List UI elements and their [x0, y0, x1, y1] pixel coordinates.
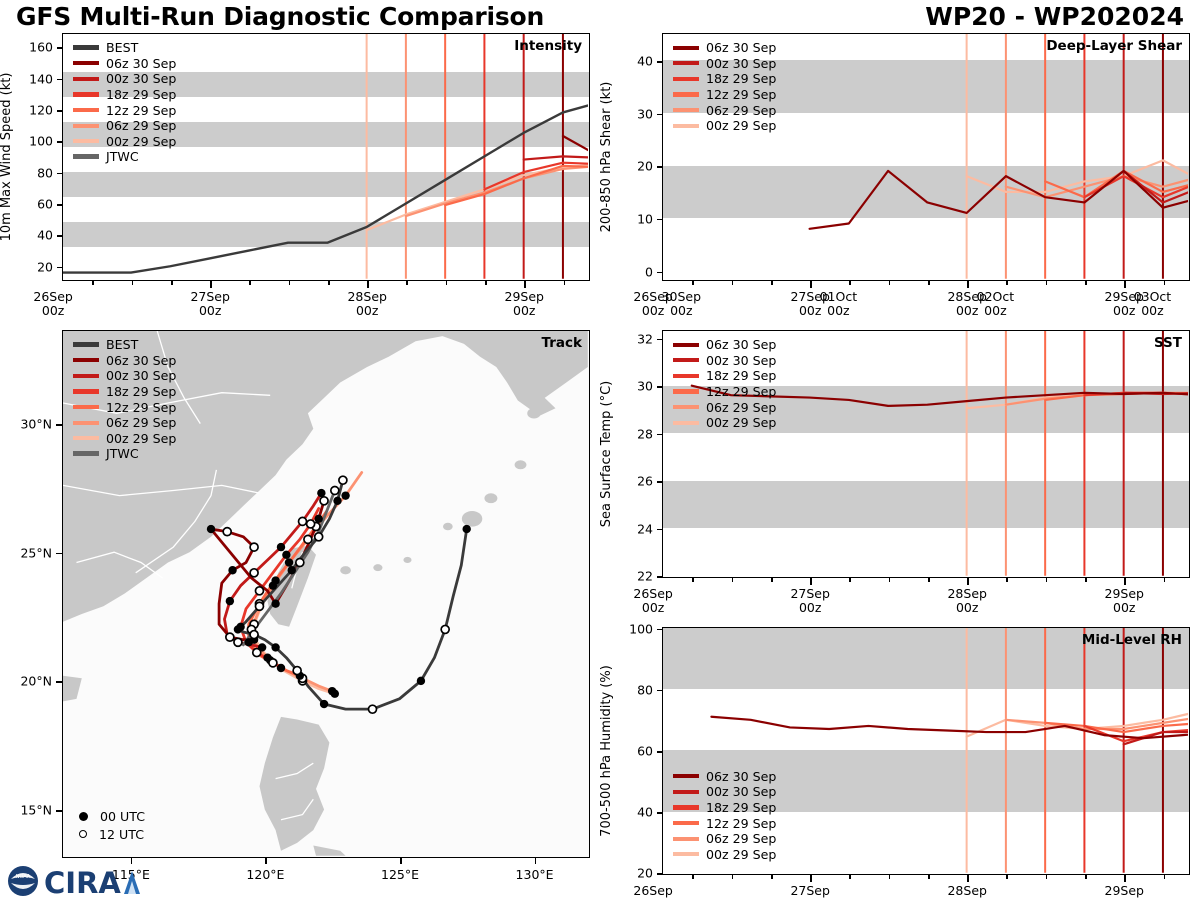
legend-item: 00z 29 Sep	[73, 431, 176, 447]
legend-swatch-icon	[673, 124, 699, 128]
x-tick-mark	[849, 578, 851, 582]
x-tick-mark	[289, 281, 291, 285]
legend-shear: 06z 30 Sep00z 30 Sep18z 29 Sep12z 29 Sep…	[673, 40, 776, 134]
x-tick-hour: 00z	[956, 303, 978, 318]
x-tick-hour: 00z	[1141, 303, 1163, 318]
y-tick-mark	[657, 629, 662, 631]
lat-tick-label: 25°N	[20, 545, 52, 560]
x-tick-mark	[928, 281, 930, 285]
x-tick-label: 27Sep00z	[790, 290, 829, 319]
y-tick-label: 26	[637, 474, 653, 489]
x-tick-label: 29Sep00z	[1105, 587, 1144, 616]
track-marker-12utc	[223, 528, 231, 536]
x-tick-mark	[692, 578, 694, 582]
x-tick-mark	[692, 875, 694, 879]
x-tick-day: 28Sep	[947, 289, 986, 304]
svg-text:CIRA: CIRA	[44, 866, 121, 900]
filled-circle-icon	[79, 812, 88, 821]
track-marker-00utc	[282, 551, 290, 559]
marker-legend-item: 00 UTC	[75, 807, 145, 825]
y-tick-mark	[657, 339, 662, 341]
x-tick-day: 29Sep	[1105, 586, 1144, 601]
y-tick-label: 100	[629, 621, 653, 636]
x-tick-mark	[1164, 578, 1166, 582]
track-marker-12utc	[293, 667, 301, 675]
legend-item: 12z 29 Sep	[73, 102, 176, 118]
x-tick-mark	[771, 875, 773, 879]
track-marker-12utc	[307, 520, 315, 528]
x-tick-hour: 00z	[642, 303, 664, 318]
x-tick-hour: 00z	[827, 303, 849, 318]
legend-label: 12z 29 Sep	[706, 87, 776, 102]
y-tick-label: 80	[37, 165, 53, 180]
x-tick-label: 28Sep00z	[347, 290, 386, 319]
y-tick-mark	[657, 812, 662, 814]
y-tick-label: 22	[637, 569, 653, 584]
x-tick-mark	[849, 875, 851, 879]
series-line	[1006, 393, 1188, 431]
lat-tick-mark	[56, 424, 62, 426]
track-marker-00utc	[207, 525, 215, 533]
lat-tick-label: 15°N	[20, 803, 52, 818]
legend-swatch-icon	[673, 108, 699, 112]
legend-swatch-icon	[73, 108, 99, 112]
lat-tick-mark	[56, 553, 62, 555]
track-marker-12utc	[255, 602, 263, 610]
legend-swatch-icon	[673, 421, 699, 425]
y-tick-label: 40	[37, 228, 53, 243]
legend-swatch-icon	[73, 92, 99, 96]
lon-tick-label: 120°E	[246, 868, 284, 882]
x-tick-mark	[849, 281, 851, 285]
y-tick-mark	[657, 529, 662, 531]
track-marker-00utc	[333, 497, 341, 505]
y-tick-label: 40	[637, 805, 653, 820]
legend-item: 12z 29 Sep	[73, 399, 176, 415]
x-tick-label: 27Sep00z	[790, 587, 829, 616]
series-line	[1045, 393, 1188, 436]
y-tick-mark	[657, 166, 662, 168]
legend-swatch-icon	[673, 405, 699, 409]
x-tick-mark	[1124, 281, 1126, 288]
coastline-shape	[260, 717, 330, 851]
series-line	[406, 158, 588, 238]
map-plot-area: TrackBEST06z 30 Sep00z 30 Sep18z 29 Sep1…	[62, 330, 590, 858]
y-tick-label: 24	[637, 521, 653, 536]
legend-swatch-icon	[673, 343, 699, 347]
x-tick-hour: 00z	[513, 303, 535, 318]
marker-legend-label: 12 UTC	[99, 827, 144, 842]
lat-tick-mark	[56, 810, 62, 812]
x-tick-hour: 00z	[1113, 600, 1135, 615]
lat-tick-mark	[56, 681, 62, 683]
marker-legend-item: 12 UTC	[75, 825, 145, 843]
y-tick-mark	[657, 690, 662, 692]
track-marker-00utc	[271, 643, 279, 651]
x-tick-mark	[406, 281, 408, 285]
track-marker-12utc	[339, 476, 347, 484]
legend-label: 00z 29 Sep	[706, 415, 776, 430]
x-tick-hour: 00z	[1113, 303, 1135, 318]
x-tick-day: 27Sep	[190, 289, 229, 304]
x-tick-label: 26Sep00z	[633, 290, 672, 319]
track-marker-00utc	[277, 543, 285, 551]
legend-swatch-icon	[673, 358, 699, 362]
legend-label: 00z 30 Sep	[106, 71, 176, 86]
legend-label: 06z 29 Sep	[106, 118, 176, 133]
legend-item: 18z 29 Sep	[73, 384, 176, 400]
y-tick-mark	[657, 873, 662, 875]
x-tick-mark	[132, 281, 134, 285]
track-marker-12utc	[320, 497, 328, 505]
panel-title-shear: Deep-Layer Shear	[1046, 38, 1182, 54]
legend-item: JTWC	[73, 446, 176, 462]
x-tick-mark	[1006, 578, 1008, 582]
plot-area-sst: SST06z 30 Sep00z 30 Sep18z 29 Sep12z 29 …	[662, 330, 1190, 578]
y-axis-label-intensity: 10m Max Wind Speed (kt)	[0, 73, 14, 242]
x-tick-mark	[889, 875, 891, 879]
legend-swatch-icon	[73, 154, 99, 159]
y-tick-mark	[57, 141, 62, 143]
svg-text:NOAA: NOAA	[16, 874, 31, 880]
track-marker-12utc	[255, 587, 263, 595]
series-line	[967, 139, 1188, 255]
legend-item: 06z 30 Sep	[73, 56, 176, 72]
legend-swatch-icon	[73, 451, 99, 456]
legend-label: 00z 29 Sep	[106, 134, 176, 149]
legend-item: 00z 29 Sep	[673, 118, 776, 134]
y-tick-mark	[657, 114, 662, 116]
cira-logo: NOAA CIRA	[6, 862, 146, 900]
track-marker-00utc	[341, 491, 349, 499]
panel-shear: Deep-Layer Shear06z 30 Sep00z 30 Sep18z …	[662, 33, 1190, 281]
x-tick-mark	[92, 281, 94, 285]
x-tick-label: 27Sep00z	[190, 290, 229, 319]
legend-swatch-icon	[73, 45, 99, 50]
lat-tick-label: 20°N	[20, 674, 52, 689]
x-tick-mark	[928, 875, 930, 879]
legend-label: 00z 30 Sep	[706, 353, 776, 368]
track-marker-12utc	[296, 559, 304, 567]
y-tick-label: 100	[29, 134, 53, 149]
track-marker-12utc	[315, 533, 323, 541]
x-tick-mark	[1046, 875, 1048, 879]
legend-swatch-icon	[73, 436, 99, 440]
x-tick-mark	[564, 281, 566, 285]
legend-item: 06z 30 Sep	[73, 353, 176, 369]
legend-label: 06z 29 Sep	[106, 415, 176, 430]
x-tick-mark	[1164, 875, 1166, 879]
x-tick-mark	[771, 281, 773, 285]
y-tick-label: 120	[29, 102, 53, 117]
x-tick-hour: 00z	[799, 303, 821, 318]
legend-label: 06z 29 Sep	[706, 831, 776, 846]
x-tick-mark	[732, 578, 734, 582]
legend-label: BEST	[106, 337, 138, 352]
legend-item: 12z 29 Sep	[673, 815, 776, 831]
y-tick-label: 30	[637, 379, 653, 394]
x-tick-mark	[692, 281, 694, 285]
x-tick-label: 27Sep00z	[790, 884, 829, 900]
track-marker-00utc	[226, 597, 234, 605]
y-axis-label-sst: Sea Surface Temp (°C)	[599, 381, 614, 528]
legend-label: 18z 29 Sep	[706, 71, 776, 86]
y-axis-label-rh: 700-500 hPa Humidity (%)	[599, 665, 614, 837]
legend-intensity: BEST06z 30 Sep00z 30 Sep18z 29 Sep12z 29…	[73, 40, 176, 165]
lon-tick-label: 125°E	[381, 868, 419, 882]
y-tick-mark	[57, 204, 62, 206]
y-tick-mark	[657, 386, 662, 388]
track-marker-12utc	[250, 543, 258, 551]
legend-label: 06z 30 Sep	[706, 769, 776, 784]
lon-tick-label: 130°E	[516, 868, 554, 882]
y-tick-mark	[657, 576, 662, 578]
track-marker-12utc	[234, 638, 242, 646]
y-tick-mark	[57, 235, 62, 237]
legend-item: 00z 29 Sep	[673, 415, 776, 431]
legend-item: 06z 30 Sep	[673, 40, 776, 56]
lat-tick-label: 30°N	[20, 417, 52, 432]
y-tick-mark	[57, 267, 62, 269]
legend-item: 06z 30 Sep	[673, 337, 776, 353]
legend-item: 00z 30 Sep	[673, 784, 776, 800]
track-marker-00utc	[277, 664, 285, 672]
legend-swatch-icon	[73, 139, 99, 143]
legend-label: 00z 30 Sep	[106, 368, 176, 383]
legend-label: 00z 29 Sep	[706, 118, 776, 133]
x-tick-day: 27Sep	[790, 586, 829, 601]
x-tick-mark	[1164, 281, 1166, 285]
y-tick-label: 32	[637, 331, 653, 346]
island-shape	[373, 564, 382, 571]
x-tick-day: 29Sep	[505, 289, 544, 304]
y-tick-label: 60	[637, 744, 653, 759]
x-tick-mark	[967, 875, 969, 882]
x-tick-mark	[171, 281, 173, 285]
legend-item: 18z 29 Sep	[673, 800, 776, 816]
y-tick-label: 80	[637, 682, 653, 697]
series-line	[1084, 393, 1187, 498]
x-tick-mark	[328, 281, 330, 285]
lon-tick-mark	[265, 858, 267, 864]
x-tick-day: 26Sep	[633, 289, 672, 304]
x-tick-mark	[810, 875, 812, 882]
legend-label: 06z 30 Sep	[106, 56, 176, 71]
panel-sst: SST06z 30 Sep00z 30 Sep18z 29 Sep12z 29 …	[662, 330, 1190, 578]
x-tick-hour: 00z	[356, 303, 378, 318]
legend-swatch-icon	[673, 852, 699, 856]
series-line	[1006, 686, 1188, 796]
y-tick-mark	[657, 219, 662, 221]
track-marker-12utc	[304, 535, 312, 543]
legend-swatch-icon	[673, 389, 699, 393]
legend-swatch-icon	[73, 358, 99, 362]
legend-label: 12z 29 Sep	[706, 816, 776, 831]
legend-item: 00z 30 Sep	[673, 353, 776, 369]
series-line	[1006, 150, 1188, 255]
track-marker-00utc	[258, 643, 266, 651]
panel-title-track: Track	[542, 335, 582, 351]
x-tick-hour: 00z	[984, 303, 1006, 318]
x-tick-label: 28Sep00z	[947, 587, 986, 616]
track-marker-00utc	[271, 599, 279, 607]
legend-markers: 00 UTC12 UTC	[75, 807, 145, 843]
x-tick-day: 27Sep	[790, 289, 829, 304]
track-marker-00utc	[417, 677, 425, 685]
panel-title-intensity: Intensity	[514, 38, 582, 54]
y-tick-label: 40	[637, 53, 653, 68]
legend-swatch-icon	[73, 342, 99, 347]
legend-item: 18z 29 Sep	[673, 71, 776, 87]
legend-label: 12z 29 Sep	[106, 400, 176, 415]
y-tick-label: 10	[637, 211, 653, 226]
panel-title-rh: Mid-Level RH	[1082, 632, 1182, 648]
legend-label: 06z 29 Sep	[706, 400, 776, 415]
legend-label: 00z 30 Sep	[706, 56, 776, 71]
legend-swatch-icon	[673, 46, 699, 50]
x-tick-mark	[1085, 875, 1087, 879]
track-marker-00utc	[288, 566, 296, 574]
legend-item: 06z 29 Sep	[673, 399, 776, 415]
x-tick-day: 28Sep	[347, 289, 386, 304]
legend-item: 00z 30 Sep	[73, 368, 176, 384]
series-line	[1084, 686, 1187, 759]
track-marker-00utc	[228, 566, 236, 574]
x-tick-mark	[810, 281, 812, 288]
legend-label: 00z 30 Sep	[706, 784, 776, 799]
x-tick-hour: 00z	[799, 600, 821, 615]
x-tick-mark	[367, 281, 369, 288]
legend-item: 06z 29 Sep	[73, 118, 176, 134]
y-tick-label: 140	[29, 71, 53, 86]
track-marker-00utc	[285, 558, 293, 566]
legend-label: 18z 29 Sep	[706, 800, 776, 815]
legend-swatch-icon	[73, 389, 99, 393]
x-tick-label: 26Sep00z	[633, 587, 672, 616]
x-tick-mark	[210, 281, 212, 288]
lon-tick-mark	[535, 858, 537, 864]
y-tick-mark	[57, 79, 62, 81]
track-marker-00utc	[269, 581, 277, 589]
y-tick-label: 20	[637, 159, 653, 174]
legend-item: 00z 29 Sep	[673, 846, 776, 862]
y-tick-mark	[57, 110, 62, 112]
legend-swatch-icon	[673, 61, 699, 65]
legend-item: 06z 29 Sep	[673, 831, 776, 847]
x-tick-hour: 00z	[199, 303, 221, 318]
coastline-shape	[63, 676, 82, 702]
legend-swatch-icon	[673, 374, 699, 378]
panel-title-sst: SST	[1154, 335, 1182, 351]
x-tick-day: 29Sep	[1105, 883, 1144, 898]
legend-item: 06z 30 Sep	[673, 768, 776, 784]
y-tick-mark	[57, 173, 62, 175]
legend-track: BEST06z 30 Sep00z 30 Sep18z 29 Sep12z 29…	[73, 337, 176, 462]
x-tick-mark	[967, 281, 969, 288]
series-line	[967, 686, 1188, 807]
lon-tick-mark	[400, 858, 402, 864]
legend-label: 18z 29 Sep	[106, 384, 176, 399]
x-tick-mark	[1085, 281, 1087, 285]
x-tick-day: 29Sep	[1105, 289, 1144, 304]
track-marker-12utc	[368, 705, 376, 713]
x-tick-mark	[889, 281, 891, 285]
legend-swatch-icon	[73, 124, 99, 128]
plot-area-shear: Deep-Layer Shear06z 30 Sep00z 30 Sep18z …	[662, 33, 1190, 281]
legend-label: 06z 30 Sep	[106, 353, 176, 368]
coastline-shape	[313, 846, 345, 856]
track-marker-00utc	[328, 687, 336, 695]
legend-item: 12z 29 Sep	[673, 87, 776, 103]
marker-legend-label: 00 UTC	[100, 809, 145, 824]
legend-sst: 06z 30 Sep00z 30 Sep18z 29 Sep12z 29 Sep…	[673, 337, 776, 431]
island-shape	[403, 557, 411, 563]
series-line	[810, 145, 1188, 261]
x-tick-day: 26Sep	[633, 586, 672, 601]
series-line	[1124, 393, 1188, 495]
x-tick-mark	[1124, 875, 1126, 882]
plot-area-intensity: IntensityBEST06z 30 Sep00z 30 Sep18z 29 …	[62, 33, 590, 281]
x-tick-label: 29Sep00z	[505, 290, 544, 319]
series-line	[1124, 689, 1188, 762]
legend-label: 00z 29 Sep	[106, 431, 176, 446]
x-tick-mark	[485, 281, 487, 285]
legend-swatch-icon	[673, 92, 699, 96]
legend-item: 00z 30 Sep	[73, 71, 176, 87]
page-title: GFS Multi-Run Diagnostic Comparison	[16, 2, 544, 31]
legend-item: 18z 29 Sep	[73, 87, 176, 103]
x-tick-hour: 00z	[670, 303, 692, 318]
track-marker-12utc	[226, 633, 234, 641]
y-tick-label: 30	[637, 106, 653, 121]
legend-swatch-icon	[73, 374, 99, 378]
panel-rh: Mid-Level RH06z 30 Sep00z 30 Sep18z 29 S…	[662, 627, 1190, 875]
legend-swatch-icon	[673, 77, 699, 81]
y-tick-label: 60	[37, 197, 53, 212]
panel-track-map: TrackBEST06z 30 Sep00z 30 Sep18z 29 Sep1…	[62, 330, 590, 858]
track-marker-12utc	[250, 631, 258, 639]
track-marker-00utc	[234, 625, 242, 633]
x-tick-mark	[771, 578, 773, 582]
island-shape	[484, 493, 497, 503]
legend-item: 12z 29 Sep	[673, 384, 776, 400]
x-tick-mark	[928, 578, 930, 582]
track-marker-12utc	[250, 569, 258, 577]
y-tick-label: 160	[29, 40, 53, 55]
y-tick-mark	[657, 61, 662, 63]
legend-label: 18z 29 Sep	[706, 368, 776, 383]
legend-swatch-icon	[73, 421, 99, 425]
x-tick-mark	[889, 578, 891, 582]
y-tick-label: 20	[637, 866, 653, 881]
legend-swatch-icon	[73, 77, 99, 81]
legend-label: 12z 29 Sep	[706, 384, 776, 399]
legend-swatch-icon	[73, 405, 99, 409]
legend-item: JTWC	[73, 149, 176, 165]
legend-item: BEST	[73, 337, 176, 353]
legend-swatch-icon	[73, 61, 99, 65]
track-marker-12utc	[299, 517, 307, 525]
legend-swatch-icon	[673, 774, 699, 778]
legend-swatch-icon	[673, 821, 699, 825]
x-tick-mark	[1046, 281, 1048, 285]
plot-area-rh: Mid-Level RH06z 30 Sep00z 30 Sep18z 29 S…	[662, 627, 1190, 875]
x-tick-mark	[1046, 578, 1048, 582]
y-tick-mark	[657, 751, 662, 753]
x-tick-mark	[446, 281, 448, 285]
track-marker-12utc	[331, 486, 339, 494]
x-tick-mark	[732, 875, 734, 879]
